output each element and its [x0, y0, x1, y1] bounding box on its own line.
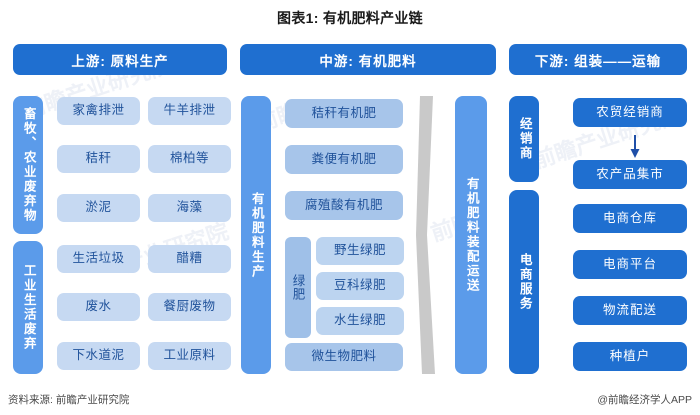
upstream-item-poultry-manure[interactable]: 家禽排泄 [57, 97, 140, 125]
upstream-item-household-waste[interactable]: 生活垃圾 [57, 245, 140, 273]
upstream-item-cotton-cake[interactable]: 棉柏等 [148, 145, 231, 173]
midstream-item-wild-green-manure[interactable]: 野生绿肥 [316, 237, 404, 265]
credit-note: @前瞻经济学人APP [597, 392, 692, 407]
industry-chain-diagram: 前瞻产业研究院 前瞻 前瞻 产业研究院 前瞻产业研究院 图表1: 有机肥料产业链… [0, 0, 700, 415]
midstream-item-humic-acid-organic-fertilizer[interactable]: 腐殖酸有机肥 [285, 191, 403, 220]
upstream-item-straw[interactable]: 秸秆 [57, 145, 140, 173]
source-note: 资料来源: 前瞻产业研究院 [8, 392, 129, 407]
midstream-item-legume-green-manure[interactable]: 豆科绿肥 [316, 272, 404, 300]
midstream-item-manure-organic-fertilizer[interactable]: 粪便有机肥 [285, 145, 403, 174]
midstream-group-label-fertilizer-production[interactable]: 有机肥料生产 [241, 96, 271, 374]
midstream-group-label-fertilizer-assembly-transport[interactable]: 有机肥料装配运送 [455, 96, 487, 374]
downstream-item-ecommerce-platform[interactable]: 电商平台 [573, 250, 687, 279]
downstream-item-logistics-delivery[interactable]: 物流配送 [573, 296, 687, 325]
midstream-item-straw-organic-fertilizer[interactable]: 秸秆有机肥 [285, 99, 403, 128]
section-header-downstream[interactable]: 下游: 组装——运输 [509, 44, 687, 75]
upstream-item-silt[interactable]: 淤泥 [57, 194, 140, 222]
midstream-item-microbial-fertilizer[interactable]: 微生物肥料 [285, 343, 403, 371]
section-header-upstream[interactable]: 上游: 原料生产 [13, 44, 227, 75]
section-header-midstream[interactable]: 中游: 有机肥料 [240, 44, 496, 75]
midstream-subgroup-label-green-manure[interactable]: 绿肥 [285, 237, 311, 338]
upstream-item-kitchen-waste[interactable]: 餐厨废物 [148, 293, 231, 321]
upstream-group-label-animal-agri-waste[interactable]: 畜牧、农业废弃物 [13, 96, 43, 234]
arrow-down-icon [629, 135, 641, 159]
downstream-item-agri-trade-dealer[interactable]: 农贸经销商 [573, 98, 687, 127]
upstream-item-sewage-sludge[interactable]: 下水道泥 [57, 342, 140, 370]
upstream-group-label-industrial-domestic-waste[interactable]: 工业生活废弃 [13, 241, 43, 374]
downstream-item-grower[interactable]: 种植户 [573, 342, 687, 371]
upstream-item-seaweed[interactable]: 海藻 [148, 194, 231, 222]
upstream-item-wastewater[interactable]: 废水 [57, 293, 140, 321]
downstream-item-agri-product-market[interactable]: 农产品集市 [573, 160, 687, 189]
stage-divider [414, 96, 444, 374]
downstream-item-ecommerce-warehouse[interactable]: 电商仓库 [573, 204, 687, 233]
upstream-item-industrial-raw[interactable]: 工业原料 [148, 342, 231, 370]
upstream-item-vinegar-residue[interactable]: 醋糟 [148, 245, 231, 273]
page-title: 图表1: 有机肥料产业链 [0, 8, 700, 28]
downstream-group-label-ecommerce-service[interactable]: 电商服务 [509, 190, 539, 374]
upstream-item-cattle-sheep-manure[interactable]: 牛羊排泄 [148, 97, 231, 125]
downstream-group-label-dealer[interactable]: 经销商 [509, 96, 539, 182]
midstream-item-aquatic-green-manure[interactable]: 水生绿肥 [316, 307, 404, 335]
